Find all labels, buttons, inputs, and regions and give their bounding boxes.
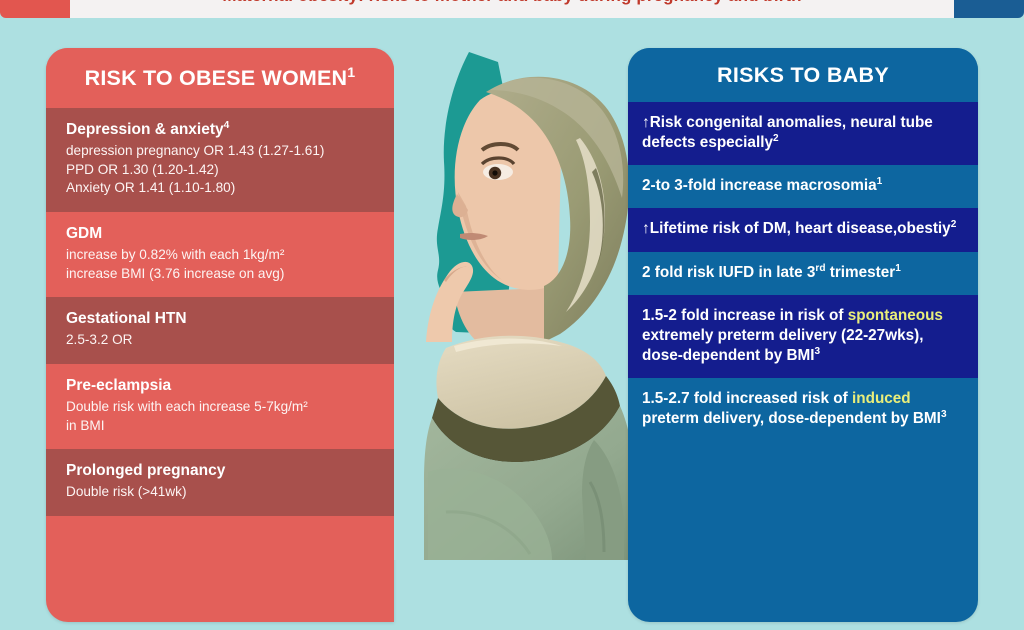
reference-superscript: 3 bbox=[941, 409, 947, 420]
row-text-segment: 1.5-2.7 fold increased risk of bbox=[642, 390, 852, 407]
up-arrow-icon: ↑ bbox=[642, 220, 650, 237]
row-text-segment: Lifetime risk of DM, heart disease,obest… bbox=[650, 220, 951, 237]
pregnant-woman-illustration bbox=[394, 42, 634, 560]
risk-row-detail: increase by 0.82% with each 1kg/m² bbox=[66, 246, 374, 265]
row-text-segment: 1.5-2 fold increase in risk of bbox=[642, 307, 848, 324]
risk-row-detail: PPD OR 1.30 (1.20-1.42) bbox=[66, 161, 374, 180]
title-bar-right-cap bbox=[954, 0, 1024, 18]
highlighted-term: spontaneous bbox=[848, 307, 943, 324]
up-arrow-icon: ↑ bbox=[642, 114, 650, 131]
risk-row-detail: 2.5-3.2 OR bbox=[66, 331, 374, 350]
right-panel-header: RISKS TO BABY bbox=[628, 48, 978, 102]
left-panel-rows: Depression & anxiety4depression pregnanc… bbox=[46, 108, 394, 516]
baby-risk-row-text: 2-to 3-fold increase macrosomia1 bbox=[642, 176, 962, 196]
baby-risk-row: 1.5-2 fold increase in risk of spontaneo… bbox=[628, 295, 978, 378]
reference-superscript: 1 bbox=[895, 263, 901, 274]
title-bar-left-cap bbox=[0, 0, 70, 18]
baby-risk-row: ↑Risk congenital anomalies, neural tube … bbox=[628, 102, 978, 165]
risk-row-title: Pre-eclampsia bbox=[66, 376, 374, 396]
row-text-segment: trimester bbox=[826, 264, 896, 281]
baby-risk-row-text: 1.5-2.7 fold increased risk of induced p… bbox=[642, 389, 962, 429]
risk-row-title: Prolonged pregnancy bbox=[66, 461, 374, 481]
pregnant-woman-photo bbox=[394, 42, 634, 560]
left-panel-header-label: RISK TO OBESE WOMEN1 bbox=[85, 66, 356, 91]
risk-row-detail: in BMI bbox=[66, 417, 374, 436]
risk-row: Pre-eclampsiaDouble risk with each incre… bbox=[46, 364, 394, 449]
highlighted-term: induced bbox=[852, 390, 911, 407]
risk-row: Depression & anxiety4depression pregnanc… bbox=[46, 108, 394, 212]
baby-risk-row-text: ↑Risk congenital anomalies, neural tube … bbox=[642, 113, 962, 153]
right-panel-header-label: RISKS TO BABY bbox=[717, 63, 889, 88]
risk-row-detail: Double risk with each increase 5-7kg/m² bbox=[66, 398, 374, 417]
row-text-segment: 2-to 3-fold increase macrosomia bbox=[642, 177, 877, 194]
row-text-segment: 2 fold risk IUFD in late 3 bbox=[642, 264, 815, 281]
left-header-superscript: 1 bbox=[347, 64, 355, 80]
risk-row: Gestational HTN2.5-3.2 OR bbox=[46, 297, 394, 364]
row-text-segment: extremely preterm delivery (22-27wks), d… bbox=[642, 327, 923, 364]
risk-row-title-superscript: 4 bbox=[224, 120, 230, 131]
reference-superscript: 3 bbox=[815, 346, 821, 357]
baby-risk-row: 1.5-2.7 fold increased risk of induced p… bbox=[628, 378, 978, 441]
risk-row-detail: Anxiety OR 1.41 (1.10-1.80) bbox=[66, 179, 374, 198]
title-bar-plate: Maternal obesity: risks to mother and ba… bbox=[70, 0, 954, 18]
row-text-segment: Risk congenital anomalies, neural tube d… bbox=[642, 114, 933, 151]
reference-superscript: rd bbox=[815, 263, 825, 274]
risk-row: Prolonged pregnancyDouble risk (>41wk) bbox=[46, 449, 394, 516]
risk-row-detail: Double risk (>41wk) bbox=[66, 483, 374, 502]
risk-row-detail: depression pregnancy OR 1.43 (1.27-1.61) bbox=[66, 142, 374, 161]
reference-superscript: 1 bbox=[877, 176, 883, 187]
baby-risk-row-text: 1.5-2 fold increase in risk of spontaneo… bbox=[642, 306, 962, 366]
baby-risk-row-text: 2 fold risk IUFD in late 3rd trimester1 bbox=[642, 263, 962, 283]
risks-to-baby-panel: RISKS TO BABY ↑Risk congenital anomalies… bbox=[628, 48, 978, 622]
risk-to-obese-women-panel: RISK TO OBESE WOMEN1 Depression & anxiet… bbox=[46, 48, 394, 622]
title-bar: Maternal obesity: risks to mother and ba… bbox=[0, 0, 1024, 18]
risk-row-detail: increase BMI (3.76 increase on avg) bbox=[66, 265, 374, 284]
risk-row: GDMincrease by 0.82% with each 1kg/m²inc… bbox=[46, 212, 394, 297]
baby-risk-row: ↑Lifetime risk of DM, heart disease,obes… bbox=[628, 208, 978, 251]
risk-row-title: Depression & anxiety4 bbox=[66, 120, 374, 140]
baby-risk-row: 2 fold risk IUFD in late 3rd trimester1 bbox=[628, 252, 978, 295]
risk-row-title: Gestational HTN bbox=[66, 309, 374, 329]
baby-risk-row-text: ↑Lifetime risk of DM, heart disease,obes… bbox=[642, 219, 962, 239]
row-text-segment: preterm delivery, dose-dependent by BMI bbox=[642, 410, 941, 427]
baby-risk-row: 2-to 3-fold increase macrosomia1 bbox=[628, 165, 978, 208]
left-panel-header: RISK TO OBESE WOMEN1 bbox=[46, 48, 394, 108]
page-title: Maternal obesity: risks to mother and ba… bbox=[222, 0, 801, 6]
risk-row-title: GDM bbox=[66, 224, 374, 244]
right-panel-rows: ↑Risk congenital anomalies, neural tube … bbox=[628, 102, 978, 441]
reference-superscript: 2 bbox=[773, 133, 779, 144]
reference-superscript: 2 bbox=[951, 219, 957, 230]
